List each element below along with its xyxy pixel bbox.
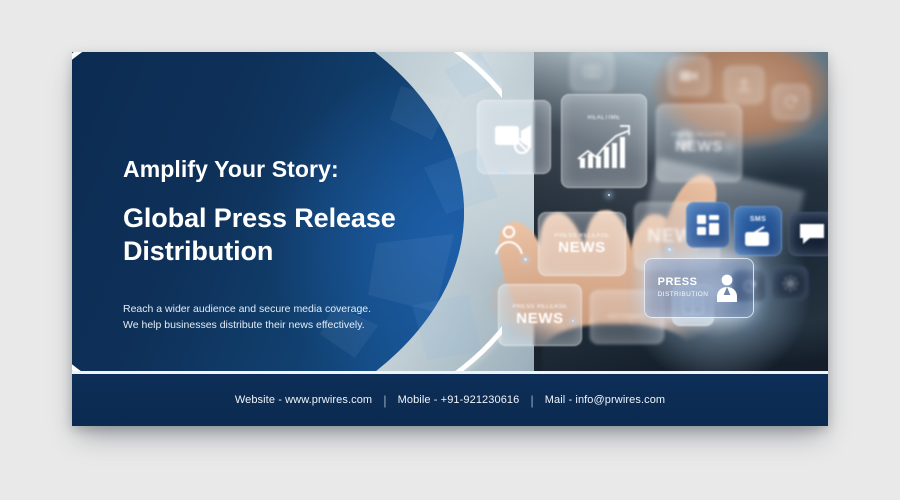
page-title: Global Press Release Distribution (123, 202, 453, 268)
tile-video-top[interactable] (668, 56, 710, 96)
headline-block: Amplify Your Story: Global Press Release… (123, 157, 453, 334)
contact-footer: Website - www.prwires.com | Mobile - +91… (72, 374, 828, 426)
headline-line-2: Distribution (123, 236, 273, 266)
sparkle (524, 258, 527, 261)
subtitle-line-1: Reach a wider audience and secure media … (123, 301, 453, 317)
tile-chat[interactable] (788, 212, 828, 256)
tile-prn2-title: NEWS (516, 311, 563, 326)
camera-icon (582, 62, 602, 80)
footer-separator: | (383, 393, 386, 408)
tile-breaking-news-title: NEWS (675, 139, 722, 154)
video-icon (679, 69, 699, 83)
subtitle-line-2: We help businesses distribute their news… (123, 317, 453, 333)
tile-press-distribution-caption: DISTRIBUTION (658, 291, 709, 298)
tile-upload-top[interactable] (724, 66, 764, 104)
tile-analytics-caption: REALTIME (588, 115, 621, 122)
eyebrow-text: Amplify Your Story: (123, 157, 453, 182)
reporter-icon (714, 273, 740, 303)
sparkle (608, 194, 610, 196)
tile-analytics[interactable]: REALTIME (561, 94, 647, 188)
tile-breaking-news-caption: PRESS RELEASE (672, 132, 727, 139)
tile-layout[interactable] (686, 202, 730, 248)
tile-dictionary-caption: DICTIONARY (608, 314, 646, 320)
tile-press-release-news-2[interactable]: PRESS RELEASE NEWS (498, 284, 582, 346)
sparkle (668, 248, 671, 251)
footer-website[interactable]: Website - www.prwires.com (235, 394, 372, 406)
sms-icon (745, 226, 771, 246)
tile-prn1-caption: PRESS RELEASE (555, 233, 610, 240)
layout-grid-icon (696, 214, 720, 236)
tile-press-distribution-title: PRESS (658, 277, 698, 288)
footer-separator: | (530, 393, 533, 408)
tile-prn1-title: NEWS (558, 240, 605, 255)
hero-media: REALTIME PRESS RELEASE NE (72, 52, 828, 371)
sparkle (572, 320, 574, 322)
screenshot-canvas: REALTIME PRESS RELEASE NE (0, 0, 900, 500)
bar-chart-icon (574, 125, 634, 171)
tile-refresh[interactable] (772, 84, 810, 120)
gear-icon (782, 275, 799, 292)
footer-mobile[interactable]: Mobile - +91-921230616 (398, 394, 520, 406)
press-release-banner: REALTIME PRESS RELEASE NE (72, 52, 828, 426)
tile-camera-top[interactable] (570, 52, 614, 92)
chat-bubble-icon (798, 222, 826, 246)
refresh-icon (783, 94, 799, 110)
tile-press-release-news-1[interactable]: PRESS RELEASE NEWS (538, 212, 626, 276)
tile-sms-caption: SMS (750, 216, 766, 224)
subtitle-text: Reach a wider audience and secure media … (123, 301, 453, 334)
footer-mail[interactable]: Mail - info@prwires.com (545, 394, 665, 406)
sparkle (502, 172, 504, 174)
tile-settings[interactable] (772, 266, 808, 300)
tile-prn2-caption: PRESS RELEASE (513, 304, 568, 311)
tile-breaking-news[interactable]: PRESS RELEASE NEWS (656, 104, 742, 182)
upload-icon (735, 76, 753, 94)
tile-press-distribution[interactable]: PRESS DISTRIBUTION (644, 258, 754, 318)
headline-line-1: Global Press Release (123, 203, 396, 233)
tile-sms[interactable]: SMS (734, 206, 782, 256)
